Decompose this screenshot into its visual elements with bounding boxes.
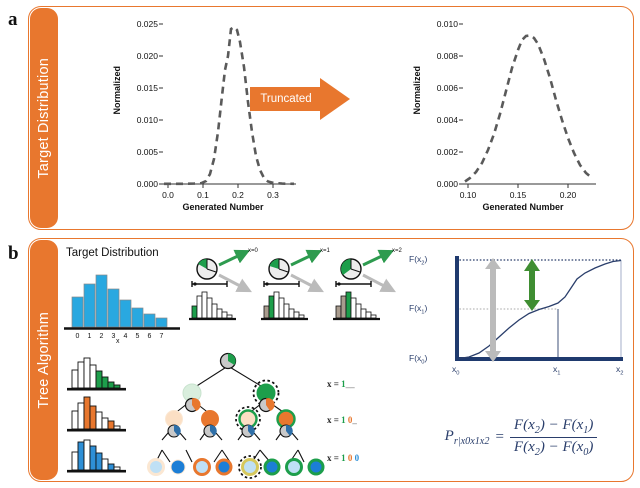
- formula-fraction: F(x2) − F(x1) F(x2) − F(x0): [510, 417, 597, 458]
- sidebar-tab-target-distribution: Target Distribution: [30, 8, 58, 228]
- seq2-d1: 1: [341, 453, 346, 463]
- ytick-left-3: 0.015: [116, 83, 158, 93]
- formula-equals: =: [489, 429, 509, 446]
- ylabel-right: Normalized: [412, 66, 422, 115]
- svg-text:1: 1: [88, 333, 92, 340]
- chart-target-distribution-histogram: 01 23 45 67: [62, 262, 184, 342]
- formula-lhs: Pr|x0x1x2: [445, 428, 490, 447]
- sidebar-tab-a-label: Target Distribution: [36, 58, 52, 179]
- tree-node-root: [221, 353, 236, 368]
- xlabel-left: Generated Number: [148, 202, 298, 212]
- xtick-right-1: 0.15: [504, 190, 532, 200]
- sidebar-tab-b-label: Tree Algorithm: [36, 312, 52, 409]
- cdf-arrow-green-numerator: [524, 259, 540, 311]
- xtick-left-2: 0.2: [224, 190, 252, 200]
- panel-letter-a: a: [8, 9, 18, 31]
- result-histograms: [62, 356, 132, 478]
- ytick-left-1: 0.005: [116, 147, 158, 157]
- xlabel-right: Generated Number: [448, 202, 598, 212]
- ylabel-left: Normalized: [112, 66, 122, 115]
- seq1-d1: 1: [341, 415, 346, 425]
- ytick-right-3: 0.006: [416, 83, 458, 93]
- chart-cdf: [443, 250, 633, 380]
- step-2-group: [333, 254, 388, 319]
- svg-text:2: 2: [100, 333, 104, 340]
- step-label-2: x=2: [392, 248, 402, 254]
- xtick-right-0: 0.10: [454, 190, 482, 200]
- seq2-prefix: x =: [327, 453, 341, 463]
- xtick-left-0: 0.0: [154, 190, 182, 200]
- svg-text:5: 5: [136, 333, 140, 340]
- xtick-right-2: 0.20: [554, 190, 582, 200]
- panel-letter-b: b: [8, 243, 19, 265]
- histogram-xlabel: x: [116, 338, 120, 345]
- sequence-label-1: x = 1 0_: [327, 415, 357, 425]
- seq0-prefix: x =: [327, 379, 341, 389]
- result-histogram-green: [67, 358, 126, 389]
- seq0-d3: _: [350, 379, 355, 389]
- ytick-left-5: 0.025: [116, 19, 158, 29]
- svg-text:6: 6: [148, 333, 152, 340]
- seq1-prefix: x =: [327, 415, 341, 425]
- seq2-d2: 0: [348, 453, 353, 463]
- ytick-right-4: 0.008: [416, 51, 458, 61]
- probability-tree-diagram: [130, 352, 325, 484]
- truncated-arrow: Truncated: [250, 78, 350, 120]
- xtick-left-1: 0.1: [189, 190, 217, 200]
- cdf-ylabel-0: F(x0): [409, 353, 427, 366]
- svg-text:3: 3: [112, 333, 116, 340]
- sidebar-tab-tree-algorithm: Tree Algorithm: [30, 240, 58, 480]
- svg-text:0: 0: [76, 333, 80, 340]
- tree-pie-l1-left: [186, 398, 201, 411]
- formula-denominator: F(x2) − F(x0): [510, 438, 597, 458]
- seq2-d3: 0: [355, 453, 360, 463]
- cdf-xlabel-2: x2: [616, 364, 623, 377]
- tree-pies-l2: [168, 425, 293, 437]
- tree-leaves: [149, 456, 324, 478]
- probability-formula: Pr|x0x1x2 = F(x2) − F(x1) F(x2) − F(x0): [408, 398, 634, 476]
- target-distribution-title: Target Distribution: [66, 247, 159, 259]
- distribution-curve-truncated: [465, 36, 592, 182]
- histogram-bars: [72, 275, 167, 327]
- ytick-left-2: 0.010: [116, 115, 158, 125]
- formula-numerator: F(x2) − F(x1): [510, 417, 597, 438]
- sequence-label-0: x = 1__: [327, 379, 355, 389]
- ytick-right-2: 0.004: [416, 115, 458, 125]
- seq1-d3: _: [352, 415, 357, 425]
- ytick-right-1: 0.002: [416, 147, 458, 157]
- xtick-left-3: 0.3: [259, 190, 287, 200]
- figure-root: a Target Distribution: [0, 0, 640, 488]
- cdf-xlabel-1: x1: [553, 364, 560, 377]
- ytick-left-0: 0.000: [116, 179, 158, 189]
- ytick-right-5: 0.010: [416, 19, 458, 29]
- arrow-head: [320, 78, 350, 120]
- cdf-xlabel-0: x0: [452, 364, 459, 377]
- step-1-group: [261, 254, 316, 319]
- cdf-ylabel-1: F(x1): [409, 303, 427, 316]
- tree-step-sequence: [186, 248, 406, 340]
- result-histogram-blue: [67, 440, 126, 471]
- sequence-label-2: x = 1 0 0: [327, 453, 359, 463]
- svg-text:4: 4: [124, 333, 128, 340]
- truncated-label: Truncated: [250, 87, 322, 111]
- step-label-0: x=0: [248, 248, 258, 254]
- svg-text:7: 7: [160, 333, 164, 340]
- step-label-1: x=1: [320, 248, 330, 254]
- result-histogram-orange: [67, 397, 126, 430]
- step-0-group: [189, 254, 244, 319]
- ytick-right-0: 0.000: [416, 179, 458, 189]
- cdf-ylabel-2: F(x2): [409, 254, 427, 267]
- chart-target-distribution-truncated: 0.000 0.002 0.004 0.006 0.008 0.010 0.10…: [418, 14, 598, 214]
- ytick-left-4: 0.020: [116, 51, 158, 61]
- tree-pie-l1-right: [260, 398, 275, 411]
